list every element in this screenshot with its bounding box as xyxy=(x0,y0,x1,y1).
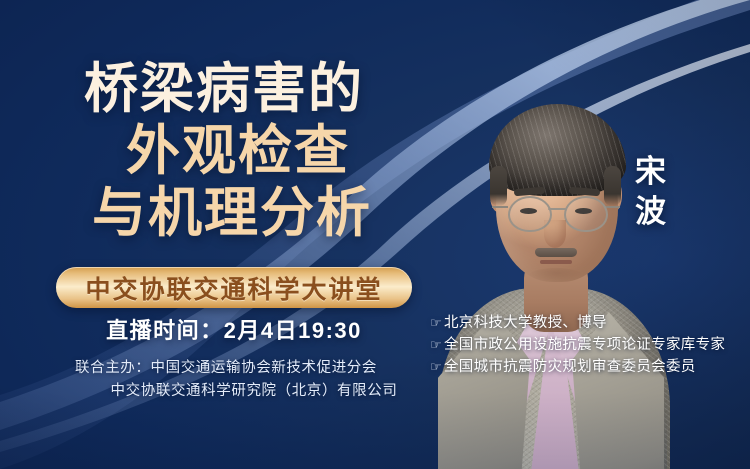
credential-row: ☞ 北京科技大学教授、博导 xyxy=(430,312,748,334)
promo-poster: 桥梁病害的 外观检查 与机理分析 中交协联交通科学大讲堂 直播时间：2月4日19… xyxy=(0,0,750,469)
portrait-sideburn-right xyxy=(604,166,621,206)
credential-text: 全国市政公用设施抗震专项论证专家库专家 xyxy=(444,335,725,356)
title-line-2: 外观检查 xyxy=(0,124,430,178)
poster-title: 桥梁病害的 外观检查 与机理分析 xyxy=(0,62,430,240)
pointing-hand-icon: ☞ xyxy=(430,312,442,333)
title-line-1: 桥梁病害的 xyxy=(0,62,430,116)
title-line-3: 与机理分析 xyxy=(0,186,430,240)
glasses-lens-right xyxy=(564,196,608,232)
portrait-mouth xyxy=(540,260,572,264)
portrait-mustache xyxy=(535,248,577,257)
credential-row: ☞ 全国城市抗震防灾规划审查委员会委员 xyxy=(430,356,748,378)
credential-row: ☞ 全国市政公用设施抗震专项论证专家库专家 xyxy=(430,334,748,356)
speaker-portrait xyxy=(432,62,667,469)
speaker-name: 宋波 xyxy=(629,152,673,232)
credential-text: 全国城市抗震防灾规划审查委员会委员 xyxy=(444,357,696,378)
portrait-nose xyxy=(544,220,566,248)
pointing-hand-icon: ☞ xyxy=(430,334,442,355)
organizer-line-2: 中交协联交通科学研究院（北京）有限公司 xyxy=(0,380,452,403)
pointing-hand-icon: ☞ xyxy=(430,356,442,377)
series-badge: 中交协联交通科学大讲堂 xyxy=(56,267,412,308)
glasses-temple-left xyxy=(492,206,508,208)
live-time: 直播时间：2月4日19:30 xyxy=(0,313,468,345)
portrait-sideburn-left xyxy=(490,166,507,206)
organizers-block: 联合主办：中国交通运输协会新技术促进分会 中交协联交通科学研究院（北京）有限公司 xyxy=(0,357,452,403)
organizer-line-1: 联合主办：中国交通运输协会新技术促进分会 xyxy=(0,357,452,380)
credential-text: 北京科技大学教授、博导 xyxy=(444,313,607,334)
speaker-credentials: ☞ 北京科技大学教授、博导 ☞ 全国市政公用设施抗震专项论证专家库专家 ☞ 全国… xyxy=(430,312,748,378)
portrait-chin xyxy=(528,268,584,284)
series-badge-label: 中交协联交通科学大讲堂 xyxy=(85,270,382,306)
